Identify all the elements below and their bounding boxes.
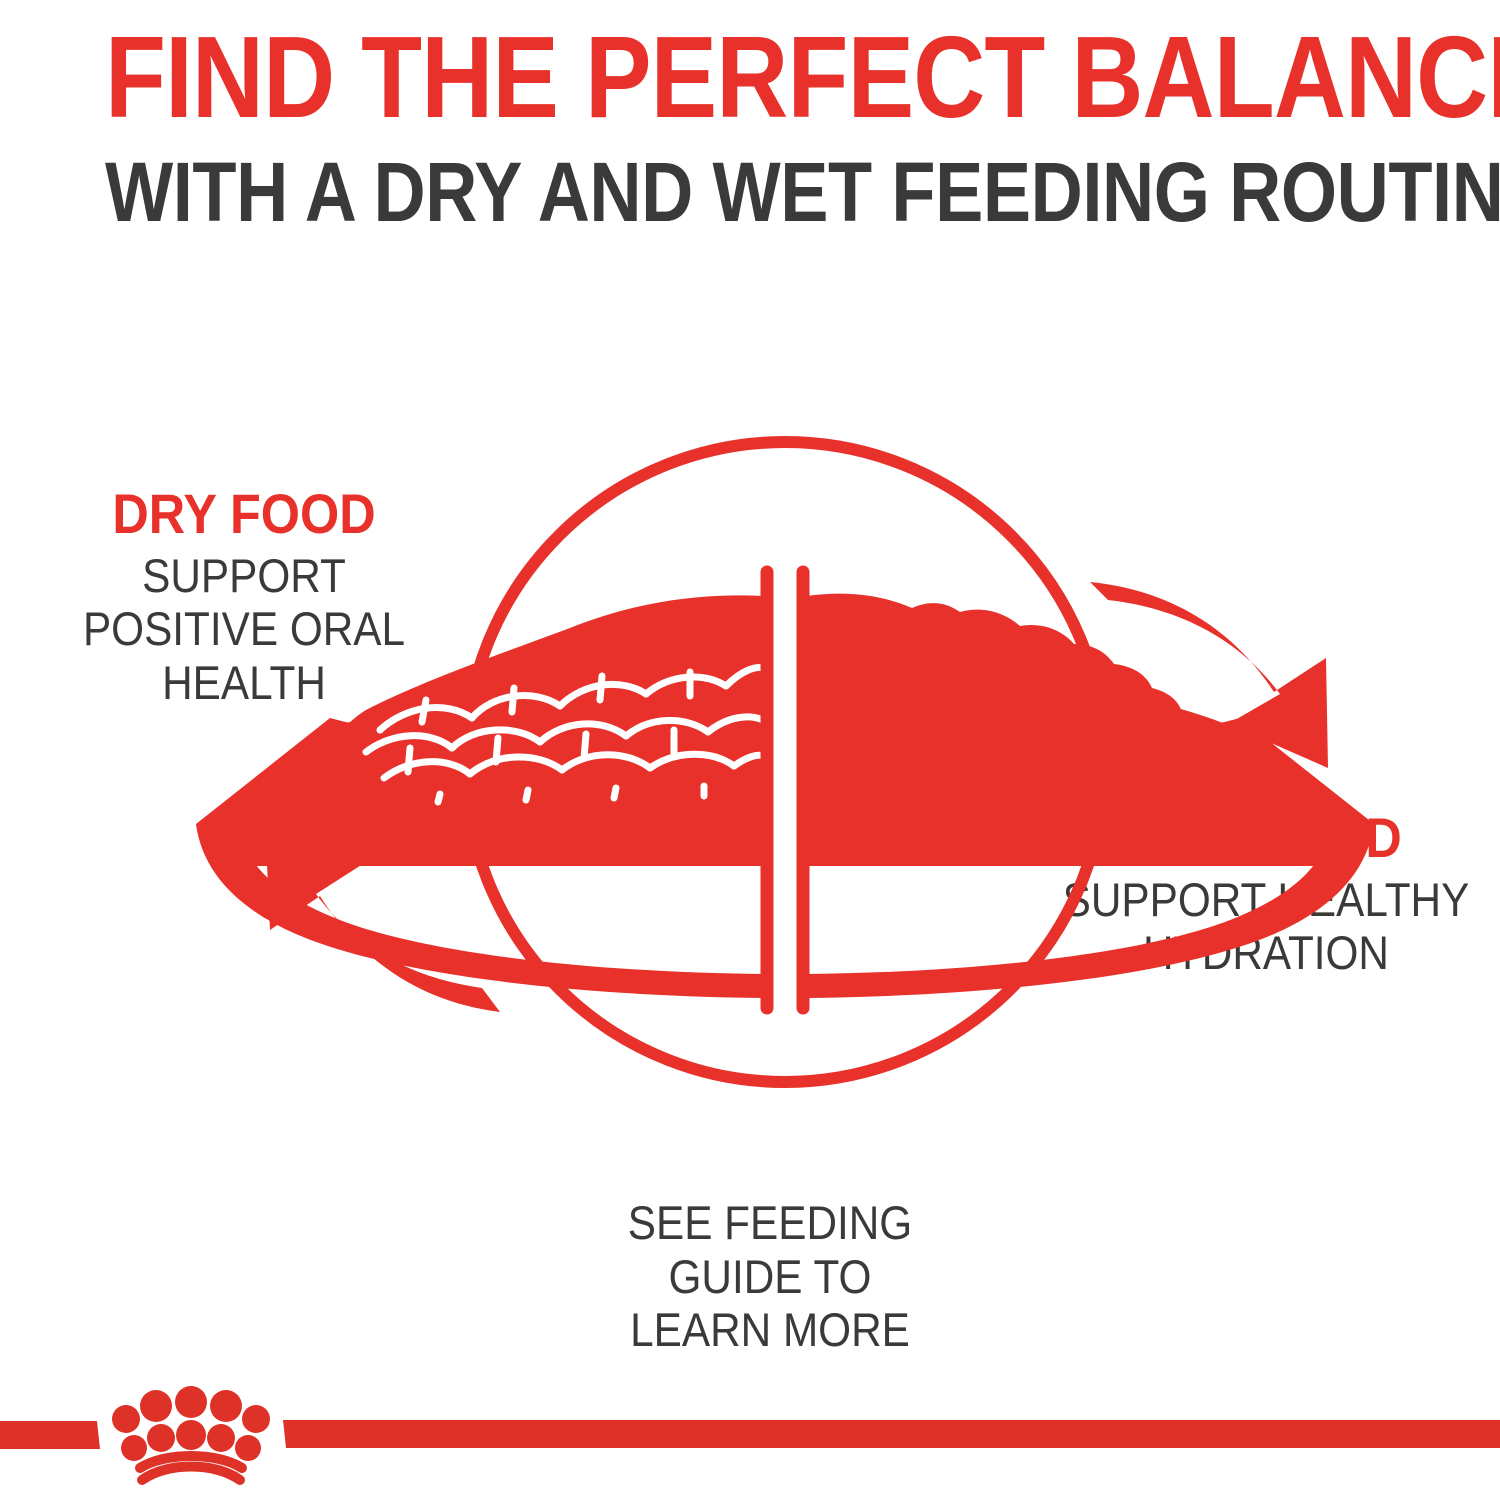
crown-dot-low-left xyxy=(121,1435,147,1461)
page-title: FIND THE PERFECT BALANCE xyxy=(105,18,1395,136)
crown-dot-top-2 xyxy=(140,1390,172,1422)
left-rule-bar xyxy=(0,1421,100,1449)
feeding-illustration xyxy=(170,400,1410,1120)
cta-line-1: SEE FEEDING xyxy=(545,1196,995,1250)
wet-food-mound xyxy=(807,594,1215,798)
crown-dot-mid-1 xyxy=(147,1424,175,1452)
crown-arc-lower xyxy=(142,1467,240,1481)
split-pet-food-bowl xyxy=(196,572,1374,1008)
vertical-split-divider xyxy=(767,572,803,1008)
feeding-guide-cta[interactable]: SEE FEEDING GUIDE TO LEARN MORE xyxy=(520,1196,1020,1357)
crown-dot-top-4 xyxy=(210,1390,242,1422)
crown-dot-low-right xyxy=(235,1435,261,1461)
crown-dot-mid-3 xyxy=(207,1424,235,1452)
crown-dot-top-5 xyxy=(242,1405,270,1433)
right-rule-bar xyxy=(283,1420,1500,1448)
footer-brand-bar xyxy=(0,1380,1500,1500)
cta-line-3: LEARN MORE xyxy=(545,1303,995,1357)
headline-block: FIND THE PERFECT BALANCE WITH A DRY AND … xyxy=(0,18,1500,237)
poster-canvas: FIND THE PERFECT BALANCE WITH A DRY AND … xyxy=(0,0,1500,1500)
crown-dot-top-1 xyxy=(112,1405,140,1433)
crown-dot-top-3 xyxy=(175,1386,207,1418)
royal-canin-crown-logo xyxy=(112,1386,270,1480)
page-subtitle: WITH A DRY AND WET FEEDING ROUTINE xyxy=(105,148,1395,236)
crown-dot-mid-2 xyxy=(176,1420,206,1450)
cta-line-2: GUIDE TO xyxy=(545,1250,995,1304)
